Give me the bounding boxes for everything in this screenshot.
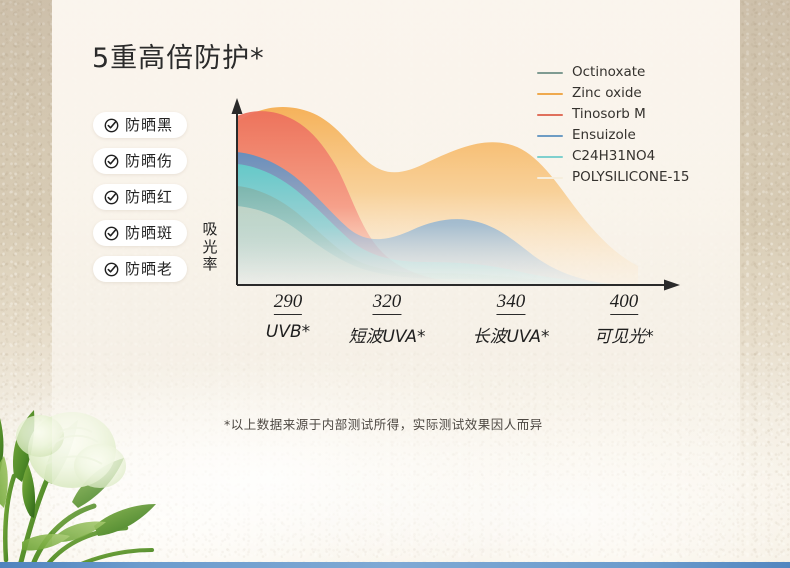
legend-label: C24H31NO4 — [572, 150, 655, 164]
y-axis-label-char: 率 — [200, 256, 220, 274]
legend-line-swatch — [537, 93, 563, 95]
x-tick-band: 可见光* — [594, 322, 654, 347]
y-axis-label-char: 吸 — [200, 221, 220, 239]
legend-item[interactable]: Zinc oxide — [537, 84, 690, 104]
x-tick-value: 320 — [373, 292, 402, 315]
x-axis-tick: 320 短波UVA* — [348, 292, 425, 347]
legend-label: Zinc oxide — [572, 87, 642, 101]
legend-line-swatch — [537, 135, 563, 137]
badge-label: 防晒老 — [125, 262, 173, 277]
legend-label: Ensuizole — [572, 129, 636, 143]
legend-line-swatch — [537, 114, 563, 116]
badge-label: 防晒红 — [125, 190, 173, 205]
y-axis-label-char: 光 — [200, 239, 220, 257]
circle-check-icon — [104, 118, 119, 133]
legend-line-swatch — [537, 72, 563, 74]
legend-line-swatch — [537, 177, 563, 179]
badge-item[interactable]: 防晒伤 — [93, 148, 187, 174]
x-axis-tick-group: 290 UVB* 320 短波UVA* 340 长波UVA* 400 可见光* — [237, 292, 682, 352]
legend-label: POLYSILICONE-15 — [572, 171, 690, 185]
x-tick-value: 400 — [610, 292, 639, 315]
x-axis-tick: 340 长波UVA* — [472, 292, 549, 347]
y-axis-label: 吸 光 率 — [200, 221, 220, 274]
circle-check-icon — [104, 154, 119, 169]
legend-item[interactable]: Ensuizole — [537, 126, 690, 146]
x-tick-value: 290 — [274, 292, 303, 315]
badge-label: 防晒伤 — [125, 154, 173, 169]
footnote-text: *以上数据来源于内部测试所得，实际测试效果因人而异 — [224, 414, 543, 433]
badge-item[interactable]: 防晒黑 — [93, 112, 187, 138]
benefit-badge-list: 防晒黑 防晒伤 防晒红 — [93, 112, 187, 292]
infographic-canvas: 5重高倍防护* 防晒黑 防晒伤 — [0, 0, 790, 568]
chart-legend: Octinoxate Zinc oxide Tinosorb M Ensuizo… — [537, 63, 690, 189]
x-axis-tick: 290 UVB* — [266, 292, 310, 342]
x-tick-band: 短波UVA* — [348, 322, 425, 347]
badge-item[interactable]: 防晒斑 — [93, 220, 187, 246]
legend-label: Octinoxate — [572, 66, 645, 80]
badge-item[interactable]: 防晒红 — [93, 184, 187, 210]
x-axis-tick: 400 可见光* — [594, 292, 654, 347]
y-axis-arrow-icon — [232, 98, 243, 114]
circle-check-icon — [104, 190, 119, 205]
x-tick-band: 长波UVA* — [472, 322, 549, 347]
circle-check-icon — [104, 226, 119, 241]
legend-item[interactable]: C24H31NO4 — [537, 147, 690, 167]
legend-label: Tinosorb M — [572, 108, 646, 122]
x-tick-band: UVB* — [266, 322, 310, 342]
badge-label: 防晒黑 — [125, 118, 173, 133]
badge-label: 防晒斑 — [125, 226, 173, 241]
x-axis-arrow-icon — [664, 280, 680, 291]
legend-item[interactable]: POLYSILICONE-15 — [537, 168, 690, 188]
legend-item[interactable]: Tinosorb M — [537, 105, 690, 125]
legend-item[interactable]: Octinoxate — [537, 63, 690, 83]
badge-item[interactable]: 防晒老 — [93, 256, 187, 282]
circle-check-icon — [104, 262, 119, 277]
x-tick-value: 340 — [497, 292, 526, 315]
legend-line-swatch — [537, 156, 563, 158]
page-title: 5重高倍防护* — [92, 36, 265, 75]
bottom-accent-bar — [0, 562, 790, 568]
